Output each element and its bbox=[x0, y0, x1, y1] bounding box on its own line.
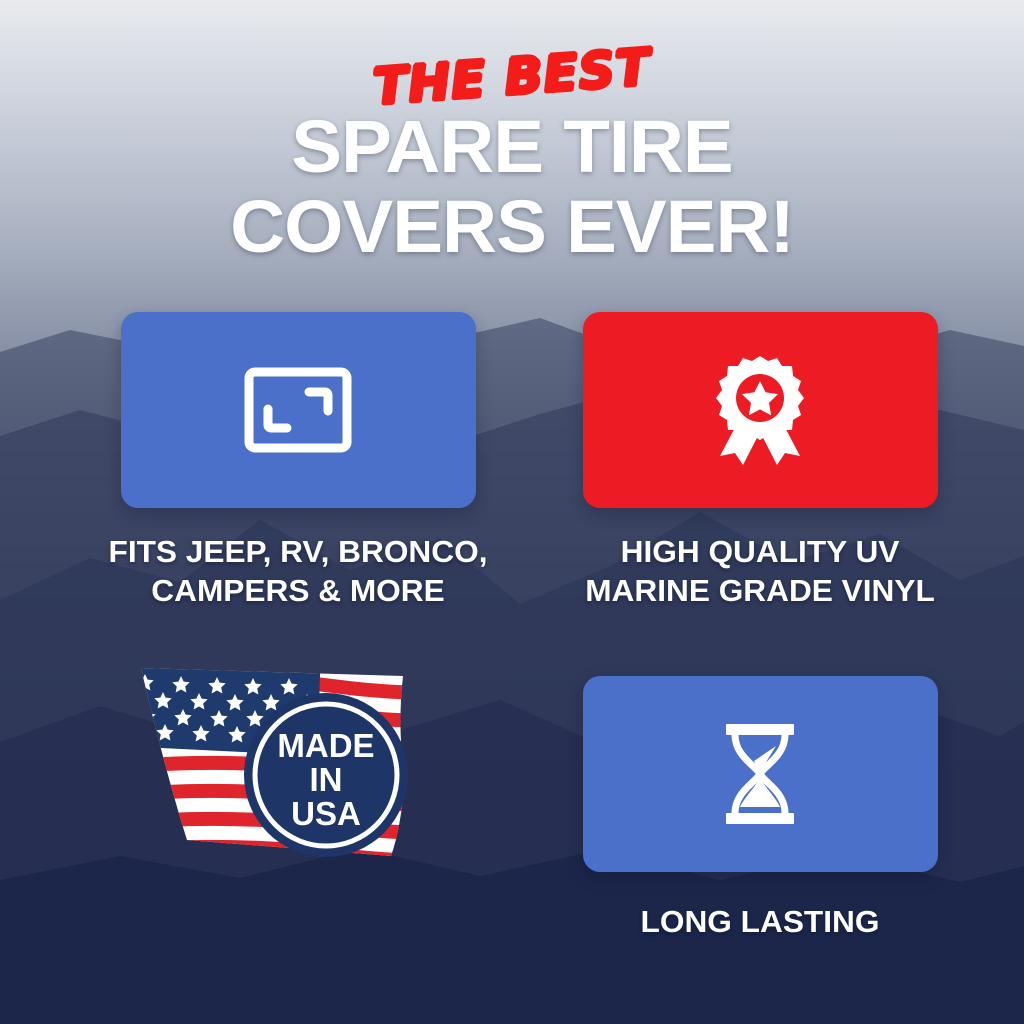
feature-card-long-lasting bbox=[583, 676, 938, 872]
headline-line-2: COVERS EVER! bbox=[0, 190, 1024, 264]
hourglass-icon bbox=[718, 722, 802, 826]
feature-quality: HIGH QUALITY UV MARINE GRADE VINYL bbox=[550, 312, 970, 610]
feature-fits: FITS JEEP, RV, BRONCO, CAMPERS & MORE bbox=[88, 312, 508, 610]
usa-graphic: MADE IN USA bbox=[121, 660, 476, 870]
badge-line-3: USA bbox=[291, 795, 361, 832]
award-ribbon-icon bbox=[708, 352, 812, 468]
feature-card-quality bbox=[583, 312, 938, 508]
feature-label-quality: HIGH QUALITY UV MARINE GRADE VINYL bbox=[546, 532, 974, 610]
feature-made-in-usa: MADE IN USA bbox=[88, 660, 508, 870]
feature-long-lasting: LONG LASTING bbox=[550, 676, 970, 941]
headline-line-1: SPARE TIRE bbox=[0, 110, 1024, 184]
fit-frame-icon bbox=[243, 366, 353, 454]
badge-line-1: MADE bbox=[277, 727, 374, 764]
feature-label-long-lasting: LONG LASTING bbox=[546, 902, 974, 941]
made-in-usa-badge: MADE IN USA bbox=[121, 660, 476, 870]
badge-line-2: IN bbox=[309, 761, 342, 798]
feature-card-fits bbox=[121, 312, 476, 508]
feature-label-fits: FITS JEEP, RV, BRONCO, CAMPERS & MORE bbox=[84, 532, 512, 610]
